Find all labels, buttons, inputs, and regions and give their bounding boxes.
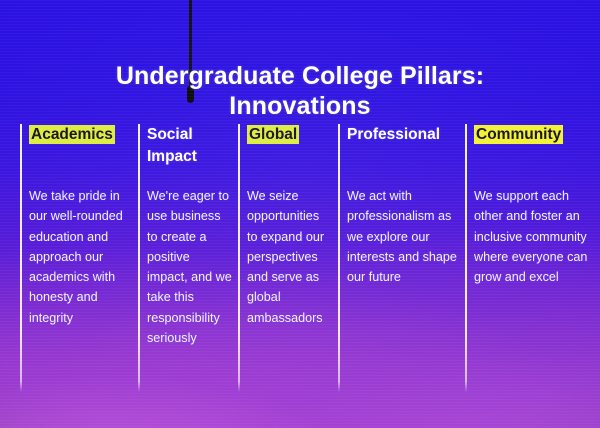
pillar-body-community: We support each other and foster an incl… (474, 186, 600, 287)
pillar-column-global: Global We seize opportunities to expand … (238, 124, 338, 392)
pillar-column-professional: Professional We act with professionalism… (338, 124, 465, 392)
pillar-heading-wrap-global: Global (247, 124, 338, 186)
column-divider (138, 124, 140, 392)
pillar-heading-global: Global (247, 125, 299, 144)
pillar-heading-social-impact: Social Impact (147, 126, 197, 165)
presentation-slide: Undergraduate College Pillars: Innovatio… (0, 0, 600, 428)
slide-title-line-2: Innovations (0, 91, 600, 121)
pillar-body-professional: We act with professionalism as we explor… (347, 186, 465, 287)
pillar-column-academics: Academics We take pride in our well-roun… (20, 124, 138, 392)
column-divider (20, 124, 22, 392)
pillar-heading-professional: Professional (347, 126, 440, 143)
pillar-heading-community: Community (474, 125, 563, 144)
pillar-heading-wrap-community: Community (474, 124, 600, 186)
pillar-columns: Academics We take pride in our well-roun… (0, 124, 600, 394)
pillar-heading-wrap-academics: Academics (29, 124, 138, 186)
pillar-column-community: Community We support each other and fost… (465, 124, 600, 392)
pillar-body-academics: We take pride in our well-rounded educat… (29, 186, 138, 328)
pillar-heading-wrap-professional: Professional (347, 124, 465, 186)
pillar-heading-wrap-social-impact: Social Impact (147, 124, 238, 186)
pillar-body-social-impact: We're eager to use business to create a … (147, 186, 238, 348)
column-divider (465, 124, 467, 392)
pillar-body-global: We seize opportunities to expand our per… (247, 186, 338, 328)
column-divider (338, 124, 340, 392)
slide-title-line-1: Undergraduate College Pillars: (116, 62, 484, 90)
column-divider (238, 124, 240, 392)
pillar-heading-academics: Academics (29, 125, 115, 144)
pillar-column-social-impact: Social Impact We're eager to use busines… (138, 124, 238, 392)
slide-title: Undergraduate College Pillars: Innovatio… (0, 61, 600, 121)
